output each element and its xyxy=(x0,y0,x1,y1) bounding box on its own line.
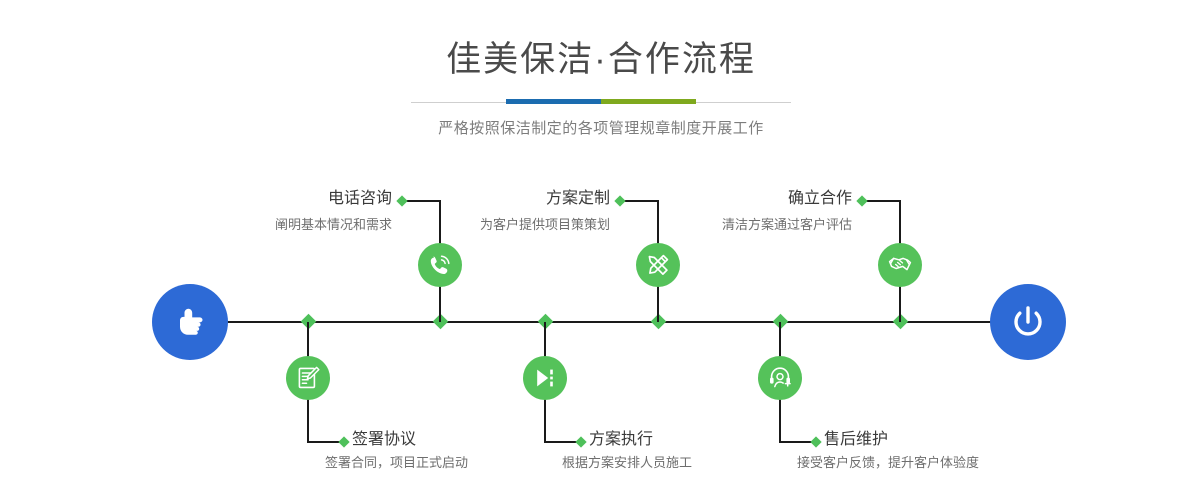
divider-segment-blue xyxy=(506,99,601,104)
divider-segment-green xyxy=(601,99,696,104)
bottom-step-1-title: 签署协议 xyxy=(352,432,416,448)
pointing-hand-icon xyxy=(170,302,210,342)
label-marker-diamond xyxy=(575,436,586,447)
connector-horizontal xyxy=(622,200,658,202)
customer-service-icon[interactable] xyxy=(758,356,802,400)
bottom-step-2-title: 方案执行 xyxy=(589,432,653,448)
top-step-3-title: 确立合作 xyxy=(660,191,852,207)
top-step-1-title: 电话咨询 xyxy=(200,191,392,207)
label-marker-diamond xyxy=(396,195,407,206)
top-step-1-desc: 阐明基本情况和需求 xyxy=(180,218,392,231)
top-step-2-title: 方案定制 xyxy=(420,191,610,207)
page-subtitle: 严格按照保洁制定的各项管理规章制度开展工作 xyxy=(0,117,1202,138)
bottom-step-2-desc: 根据方案安排人员施工 xyxy=(562,456,692,469)
title-divider xyxy=(411,99,791,105)
flow-start-endpoint[interactable] xyxy=(152,284,228,360)
connector-horizontal xyxy=(864,200,900,202)
play-execute-icon[interactable] xyxy=(523,356,567,400)
label-marker-diamond xyxy=(338,436,349,447)
page-title: 佳美保洁·合作流程 xyxy=(0,42,1202,77)
label-marker-diamond xyxy=(810,436,821,447)
page-header: 佳美保洁·合作流程 严格按照保洁制定的各项管理规章制度开展工作 xyxy=(0,0,1202,138)
top-step-3-desc: 清洁方案通过客户评估 xyxy=(636,218,852,231)
bottom-step-3-title: 售后维护 xyxy=(824,432,888,448)
document-sign-icon[interactable] xyxy=(286,356,330,400)
top-step-2-desc: 为客户提供项目策策划 xyxy=(400,218,610,231)
flow-end-endpoint[interactable] xyxy=(990,284,1066,360)
label-marker-diamond xyxy=(614,195,625,206)
flowchart-canvas: 佳美保洁·合作流程 严格按照保洁制定的各项管理规章制度开展工作 xyxy=(0,0,1202,502)
phone-call-icon[interactable] xyxy=(418,243,462,287)
pencil-edit-icon[interactable] xyxy=(636,243,680,287)
handshake-icon[interactable] xyxy=(878,243,922,287)
bottom-step-1-desc: 签署合同，项目正式启动 xyxy=(325,456,468,469)
label-marker-diamond xyxy=(856,195,867,206)
power-button-icon xyxy=(1007,301,1049,343)
bottom-step-3-desc: 接受客户反馈，提升客户体验度 xyxy=(797,456,979,469)
